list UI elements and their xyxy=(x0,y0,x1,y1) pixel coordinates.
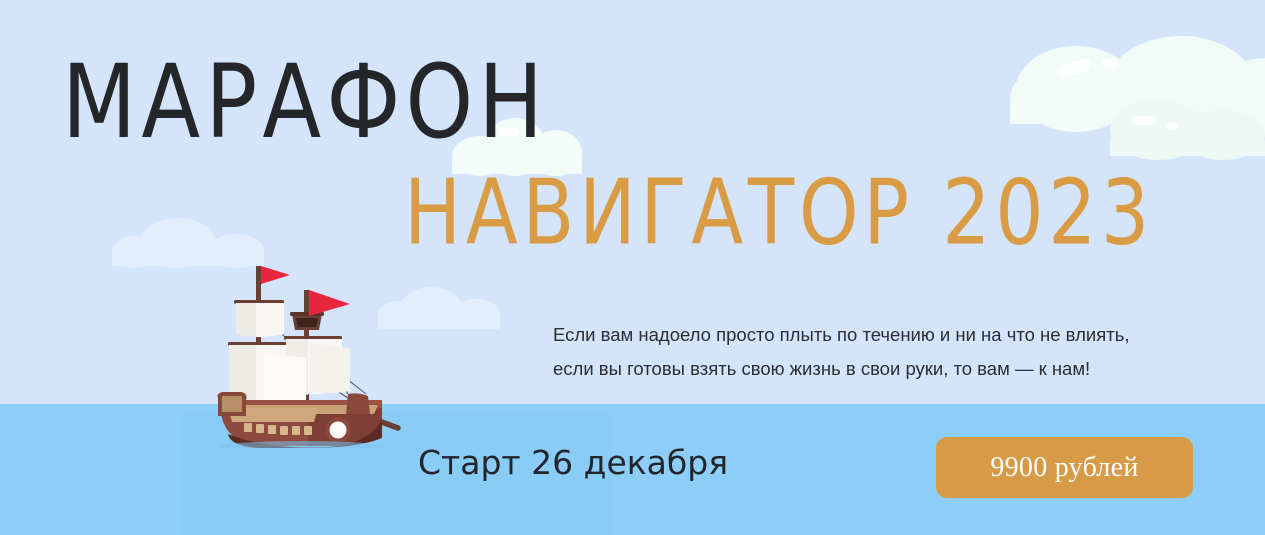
cloud-top-right-lower-icon xyxy=(1110,96,1265,156)
lead-paragraph: Если вам надоело просто плыть по течению… xyxy=(553,318,1213,386)
lead-line-1: Если вам надоело просто плыть по течению… xyxy=(553,318,1213,352)
sailing-ship-icon xyxy=(198,248,413,448)
promo-banner: МАРАФОН НАВИГАТОР 2023 Если вам надоело … xyxy=(0,0,1265,535)
price-button[interactable]: 9900 рублей xyxy=(936,437,1193,498)
headline-line-1: МАРАФОН xyxy=(62,52,548,153)
start-date-label: Старт 26 декабря xyxy=(418,443,728,482)
headline-line-2: НАВИГАТОР 2023 xyxy=(404,168,1154,258)
lead-line-2: если вы готовы взять свою жизнь в свои р… xyxy=(553,352,1213,386)
